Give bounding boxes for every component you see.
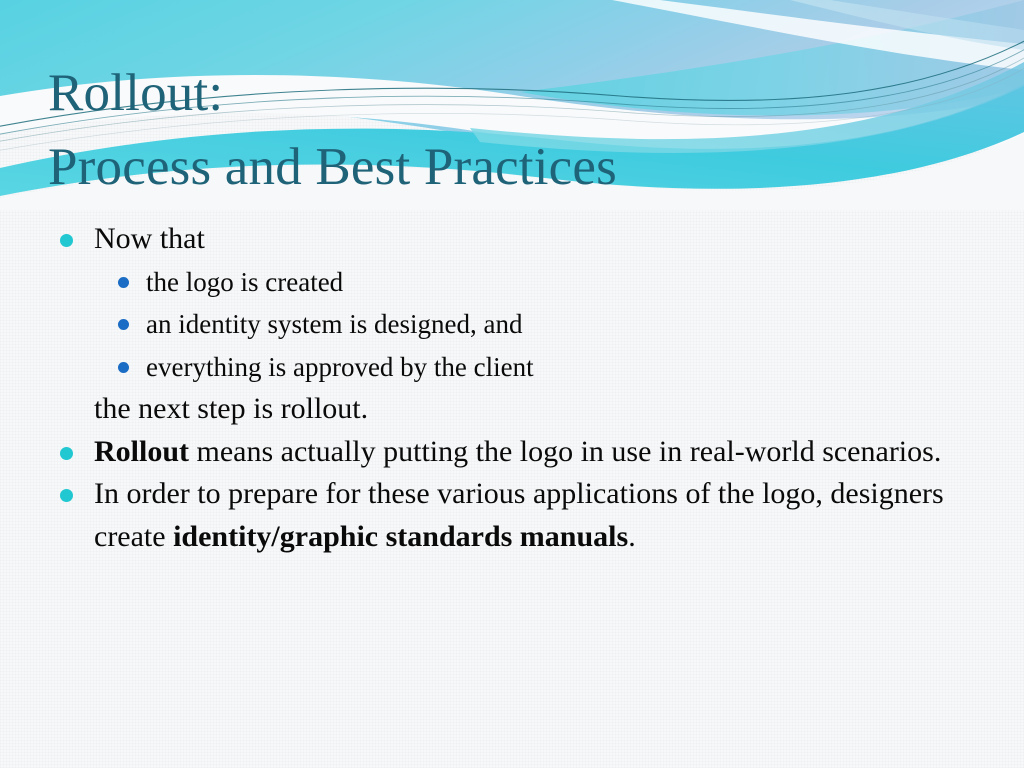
bullet-text-emphasis: identity/graphic standards manuals bbox=[173, 520, 628, 553]
bullet-level1-item: Rollout means actually putting the logo … bbox=[52, 431, 982, 474]
bullet-marker-level2-icon bbox=[118, 319, 129, 330]
bullet-marker-level1-icon bbox=[60, 447, 73, 460]
bullet-marker-level1-icon bbox=[60, 489, 73, 502]
bullet-text: Now that bbox=[94, 222, 205, 255]
bullet-text: . bbox=[628, 520, 636, 553]
bullet-marker-level2-icon bbox=[118, 277, 129, 288]
slide-content-layer: Rollout: Process and Best Practices Now … bbox=[0, 0, 1024, 768]
bullet-level1-item: In order to prepare for these various ap… bbox=[52, 473, 982, 558]
title-line-2: Process and Best Practices bbox=[48, 130, 978, 204]
bullet-marker-level2-icon bbox=[118, 362, 129, 373]
bullet-text-emphasis: Rollout bbox=[94, 435, 189, 468]
bullet-level2-item: an identity system is designed, and bbox=[52, 303, 982, 346]
bullet-continuation-line: the next step is rollout. bbox=[52, 388, 982, 431]
bullet-text: means actually putting the logo in use i… bbox=[189, 435, 941, 468]
bullet-text: everything is approved by the client bbox=[146, 352, 534, 382]
bullet-text: the next step is rollout. bbox=[94, 392, 368, 425]
slide-title: Rollout: Process and Best Practices bbox=[48, 56, 978, 204]
bullet-marker-level1-icon bbox=[60, 234, 73, 247]
bullet-level1-item: Now that bbox=[52, 218, 982, 261]
bullet-text: an identity system is designed, and bbox=[146, 309, 522, 339]
bullet-level2-item: everything is approved by the client bbox=[52, 346, 982, 389]
title-line-1: Rollout: bbox=[48, 56, 978, 130]
bullet-level2-item: the logo is created bbox=[52, 261, 982, 304]
presentation-slide: Rollout: Process and Best Practices Now … bbox=[0, 0, 1024, 768]
bullet-text: the logo is created bbox=[146, 267, 343, 297]
slide-body: Now that the logo is created an identity… bbox=[52, 218, 982, 558]
